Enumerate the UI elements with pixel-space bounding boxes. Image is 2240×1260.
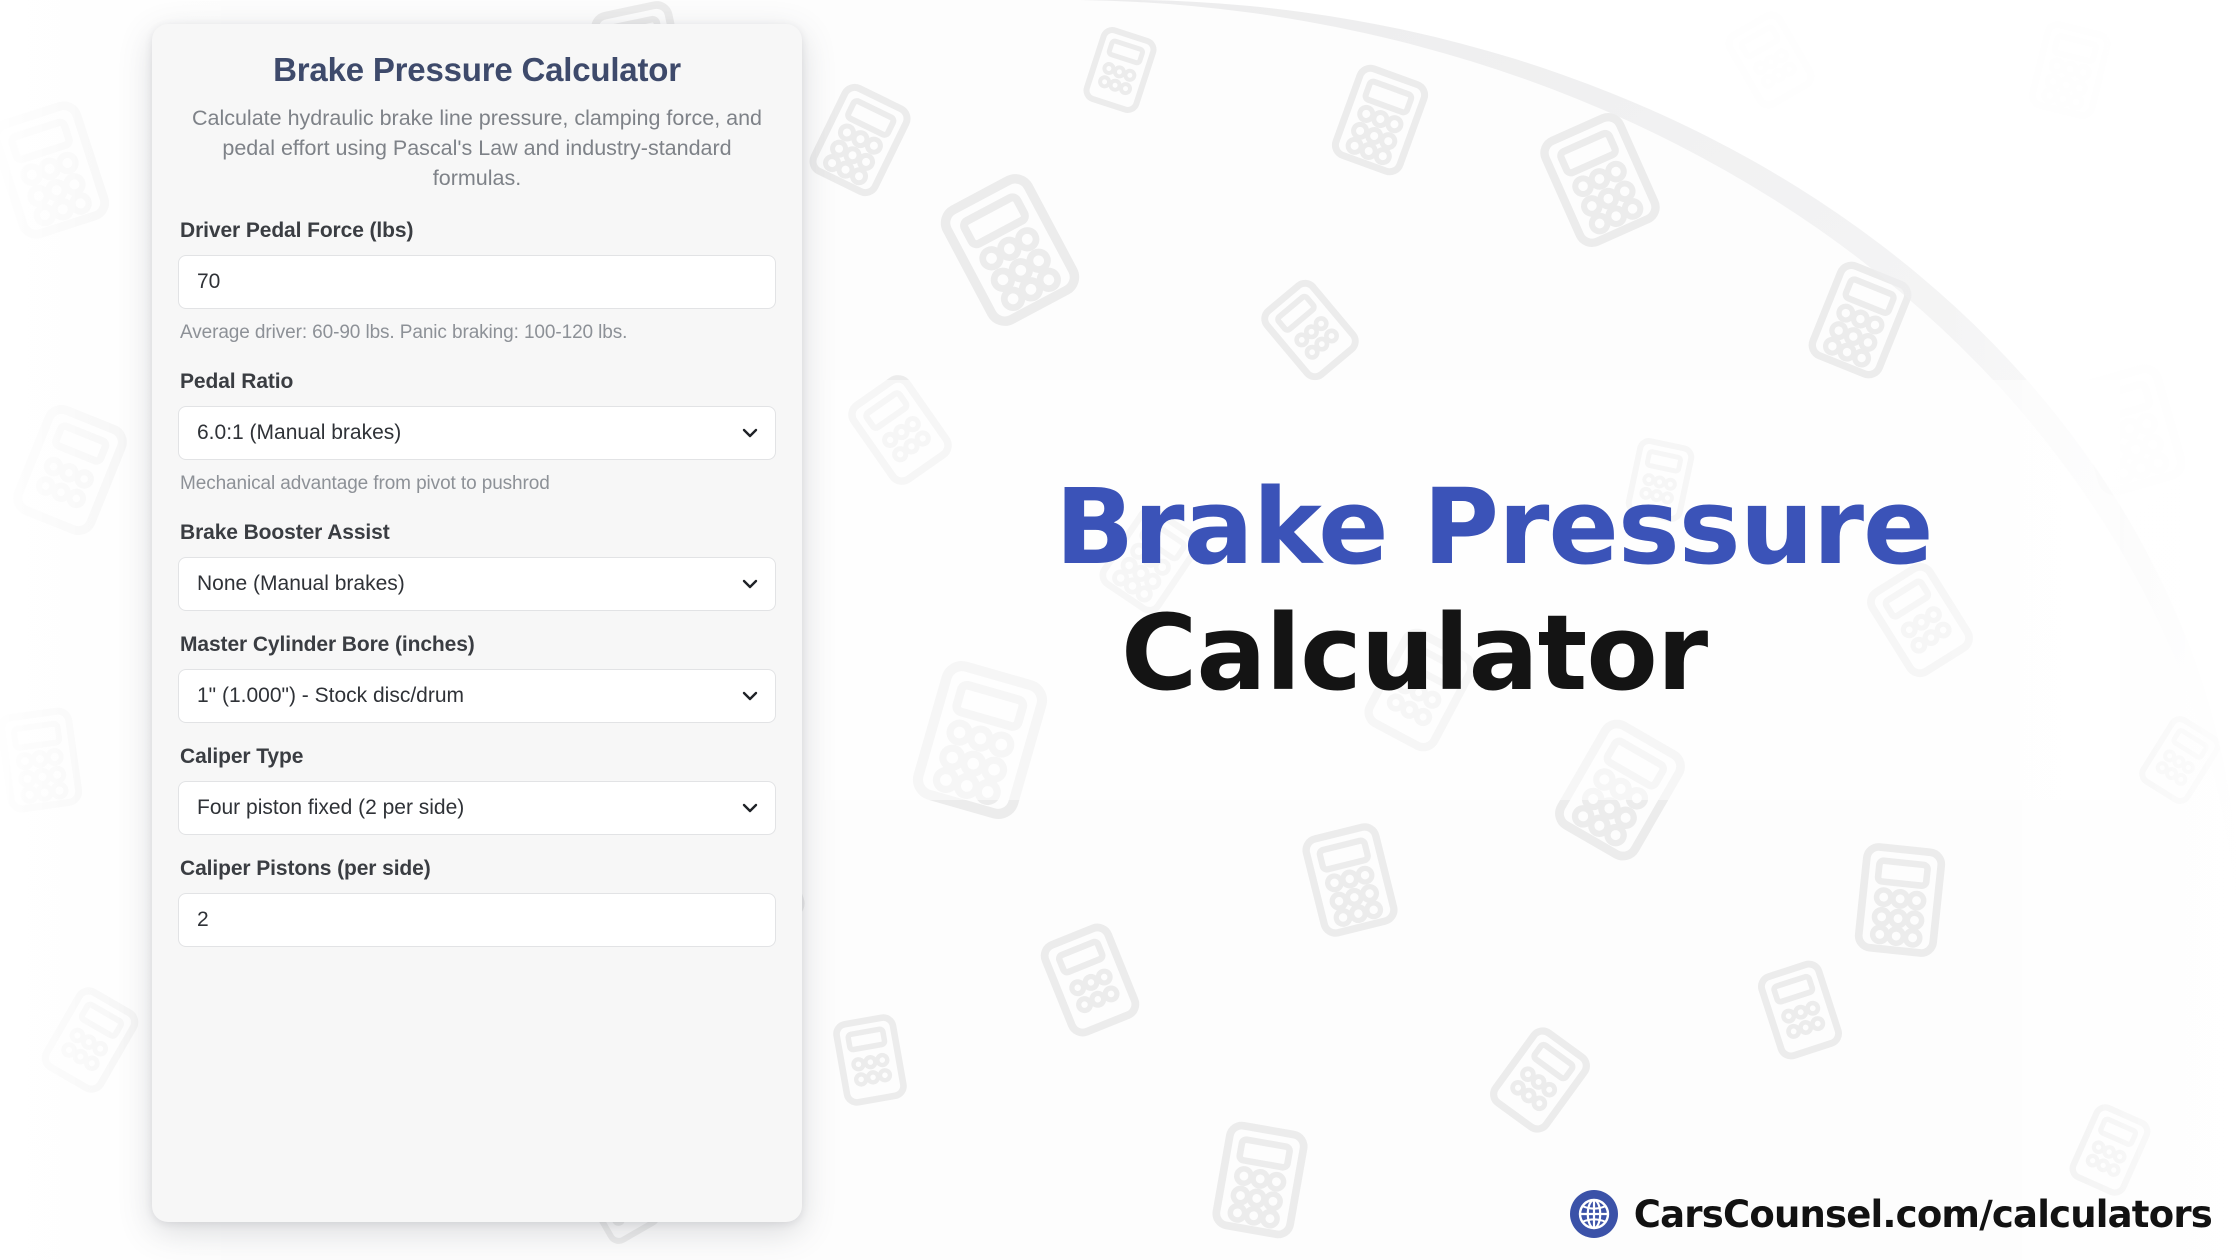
field-pedal-ratio: Pedal Ratio 6.0:1 (Manual brakes) Mechan… <box>178 370 776 495</box>
pedal-ratio-value: 6.0:1 (Manual brakes) <box>178 406 776 460</box>
poster-canvas: Brake Pressure Calculator Calculate hydr… <box>0 0 2240 1260</box>
caliper-pistons-input[interactable] <box>178 893 776 947</box>
brake-booster-assist-select[interactable]: None (Manual brakes) <box>178 557 776 611</box>
field-driver-pedal-force: Driver Pedal Force (lbs) Average driver:… <box>178 219 776 344</box>
field-caliper-pistons: Caliper Pistons (per side) <box>178 857 776 947</box>
driver-pedal-force-label: Driver Pedal Force (lbs) <box>180 219 776 243</box>
card-content: Brake Pressure Calculator Calculate hydr… <box>152 24 802 947</box>
master-cylinder-bore-select[interactable]: 1" (1.000") - Stock disc/drum <box>178 669 776 723</box>
master-cylinder-bore-value: 1" (1.000") - Stock disc/drum <box>178 669 776 723</box>
card-title: Brake Pressure Calculator <box>178 50 776 90</box>
brand-footer: CarsCounsel.com/calculators <box>1570 1190 2212 1238</box>
card-subtitle: Calculate hydraulic brake line pressure,… <box>182 104 772 193</box>
brake-pressure-calculator-card: Brake Pressure Calculator Calculate hydr… <box>152 24 802 1222</box>
driver-pedal-force-help: Average driver: 60-90 lbs. Panic braking… <box>180 322 776 344</box>
field-master-cylinder-bore: Master Cylinder Bore (inches) 1" (1.000"… <box>178 633 776 723</box>
pedal-ratio-help: Mechanical advantage from pivot to pushr… <box>180 473 776 495</box>
brake-booster-assist-label: Brake Booster Assist <box>180 521 776 545</box>
hero-title: Brake Pressure Calculator <box>1055 472 2055 708</box>
driver-pedal-force-input[interactable] <box>178 255 776 309</box>
field-caliper-type: Caliper Type Four piston fixed (2 per si… <box>178 745 776 835</box>
pedal-ratio-select[interactable]: 6.0:1 (Manual brakes) <box>178 406 776 460</box>
master-cylinder-bore-label: Master Cylinder Bore (inches) <box>180 633 776 657</box>
field-brake-booster-assist: Brake Booster Assist None (Manual brakes… <box>178 521 776 611</box>
brand-url: CarsCounsel.com/calculators <box>1634 1193 2212 1236</box>
caliper-pistons-label: Caliper Pistons (per side) <box>180 857 776 881</box>
hero-title-line-1: Brake Pressure <box>1055 472 2055 582</box>
caliper-type-value: Four piston fixed (2 per side) <box>178 781 776 835</box>
brake-booster-assist-value: None (Manual brakes) <box>178 557 776 611</box>
hero-title-line-2: Calculator <box>1121 598 2055 708</box>
caliper-type-select[interactable]: Four piston fixed (2 per side) <box>178 781 776 835</box>
pedal-ratio-label: Pedal Ratio <box>180 370 776 394</box>
caliper-type-label: Caliper Type <box>180 745 776 769</box>
globe-icon <box>1570 1190 1618 1238</box>
